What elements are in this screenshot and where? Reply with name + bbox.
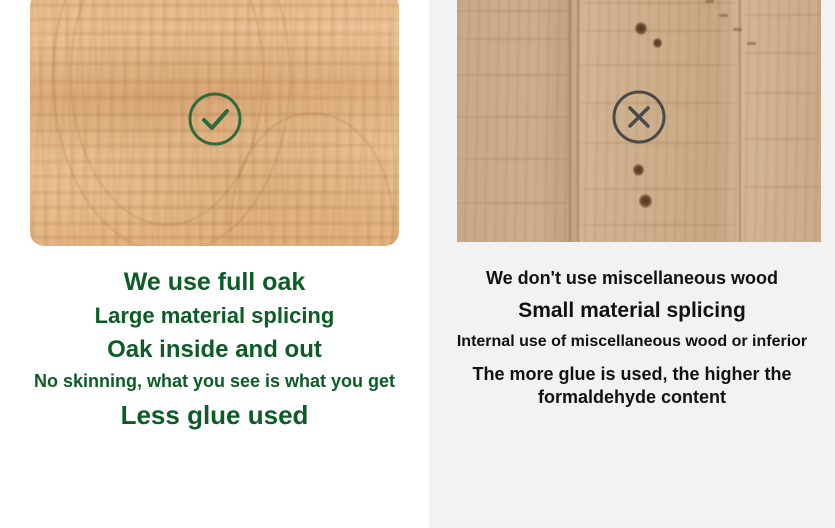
check-circle-icon — [186, 90, 244, 148]
left-caption-2: Large material splicing — [0, 303, 429, 329]
wood-comparison-figure: We use full oak Large material splicing … — [0, 0, 835, 528]
right-panel-bad: We don't use miscellaneous wood Small ma… — [429, 0, 835, 528]
right-caption-1: We don't use miscellaneous wood — [429, 268, 835, 289]
right-caption-4: The more glue is used, the higher the fo… — [429, 363, 835, 408]
left-caption-4: No skinning, what you see is what you ge… — [0, 371, 429, 392]
left-captions: We use full oak Large material splicing … — [0, 268, 429, 431]
left-caption-1: We use full oak — [0, 268, 429, 297]
left-caption-5: Less glue used — [0, 400, 429, 431]
left-panel-good: We use full oak Large material splicing … — [0, 0, 429, 528]
right-caption-3: Internal use of miscellaneous wood or in… — [429, 333, 835, 351]
left-caption-3: Oak inside and out — [0, 336, 429, 364]
right-caption-2: Small material splicing — [429, 299, 835, 323]
miscellaneous-wood-image — [457, 0, 821, 242]
oak-board-image — [30, 0, 399, 246]
cross-circle-icon — [610, 88, 668, 146]
right-captions: We don't use miscellaneous wood Small ma… — [429, 268, 835, 408]
